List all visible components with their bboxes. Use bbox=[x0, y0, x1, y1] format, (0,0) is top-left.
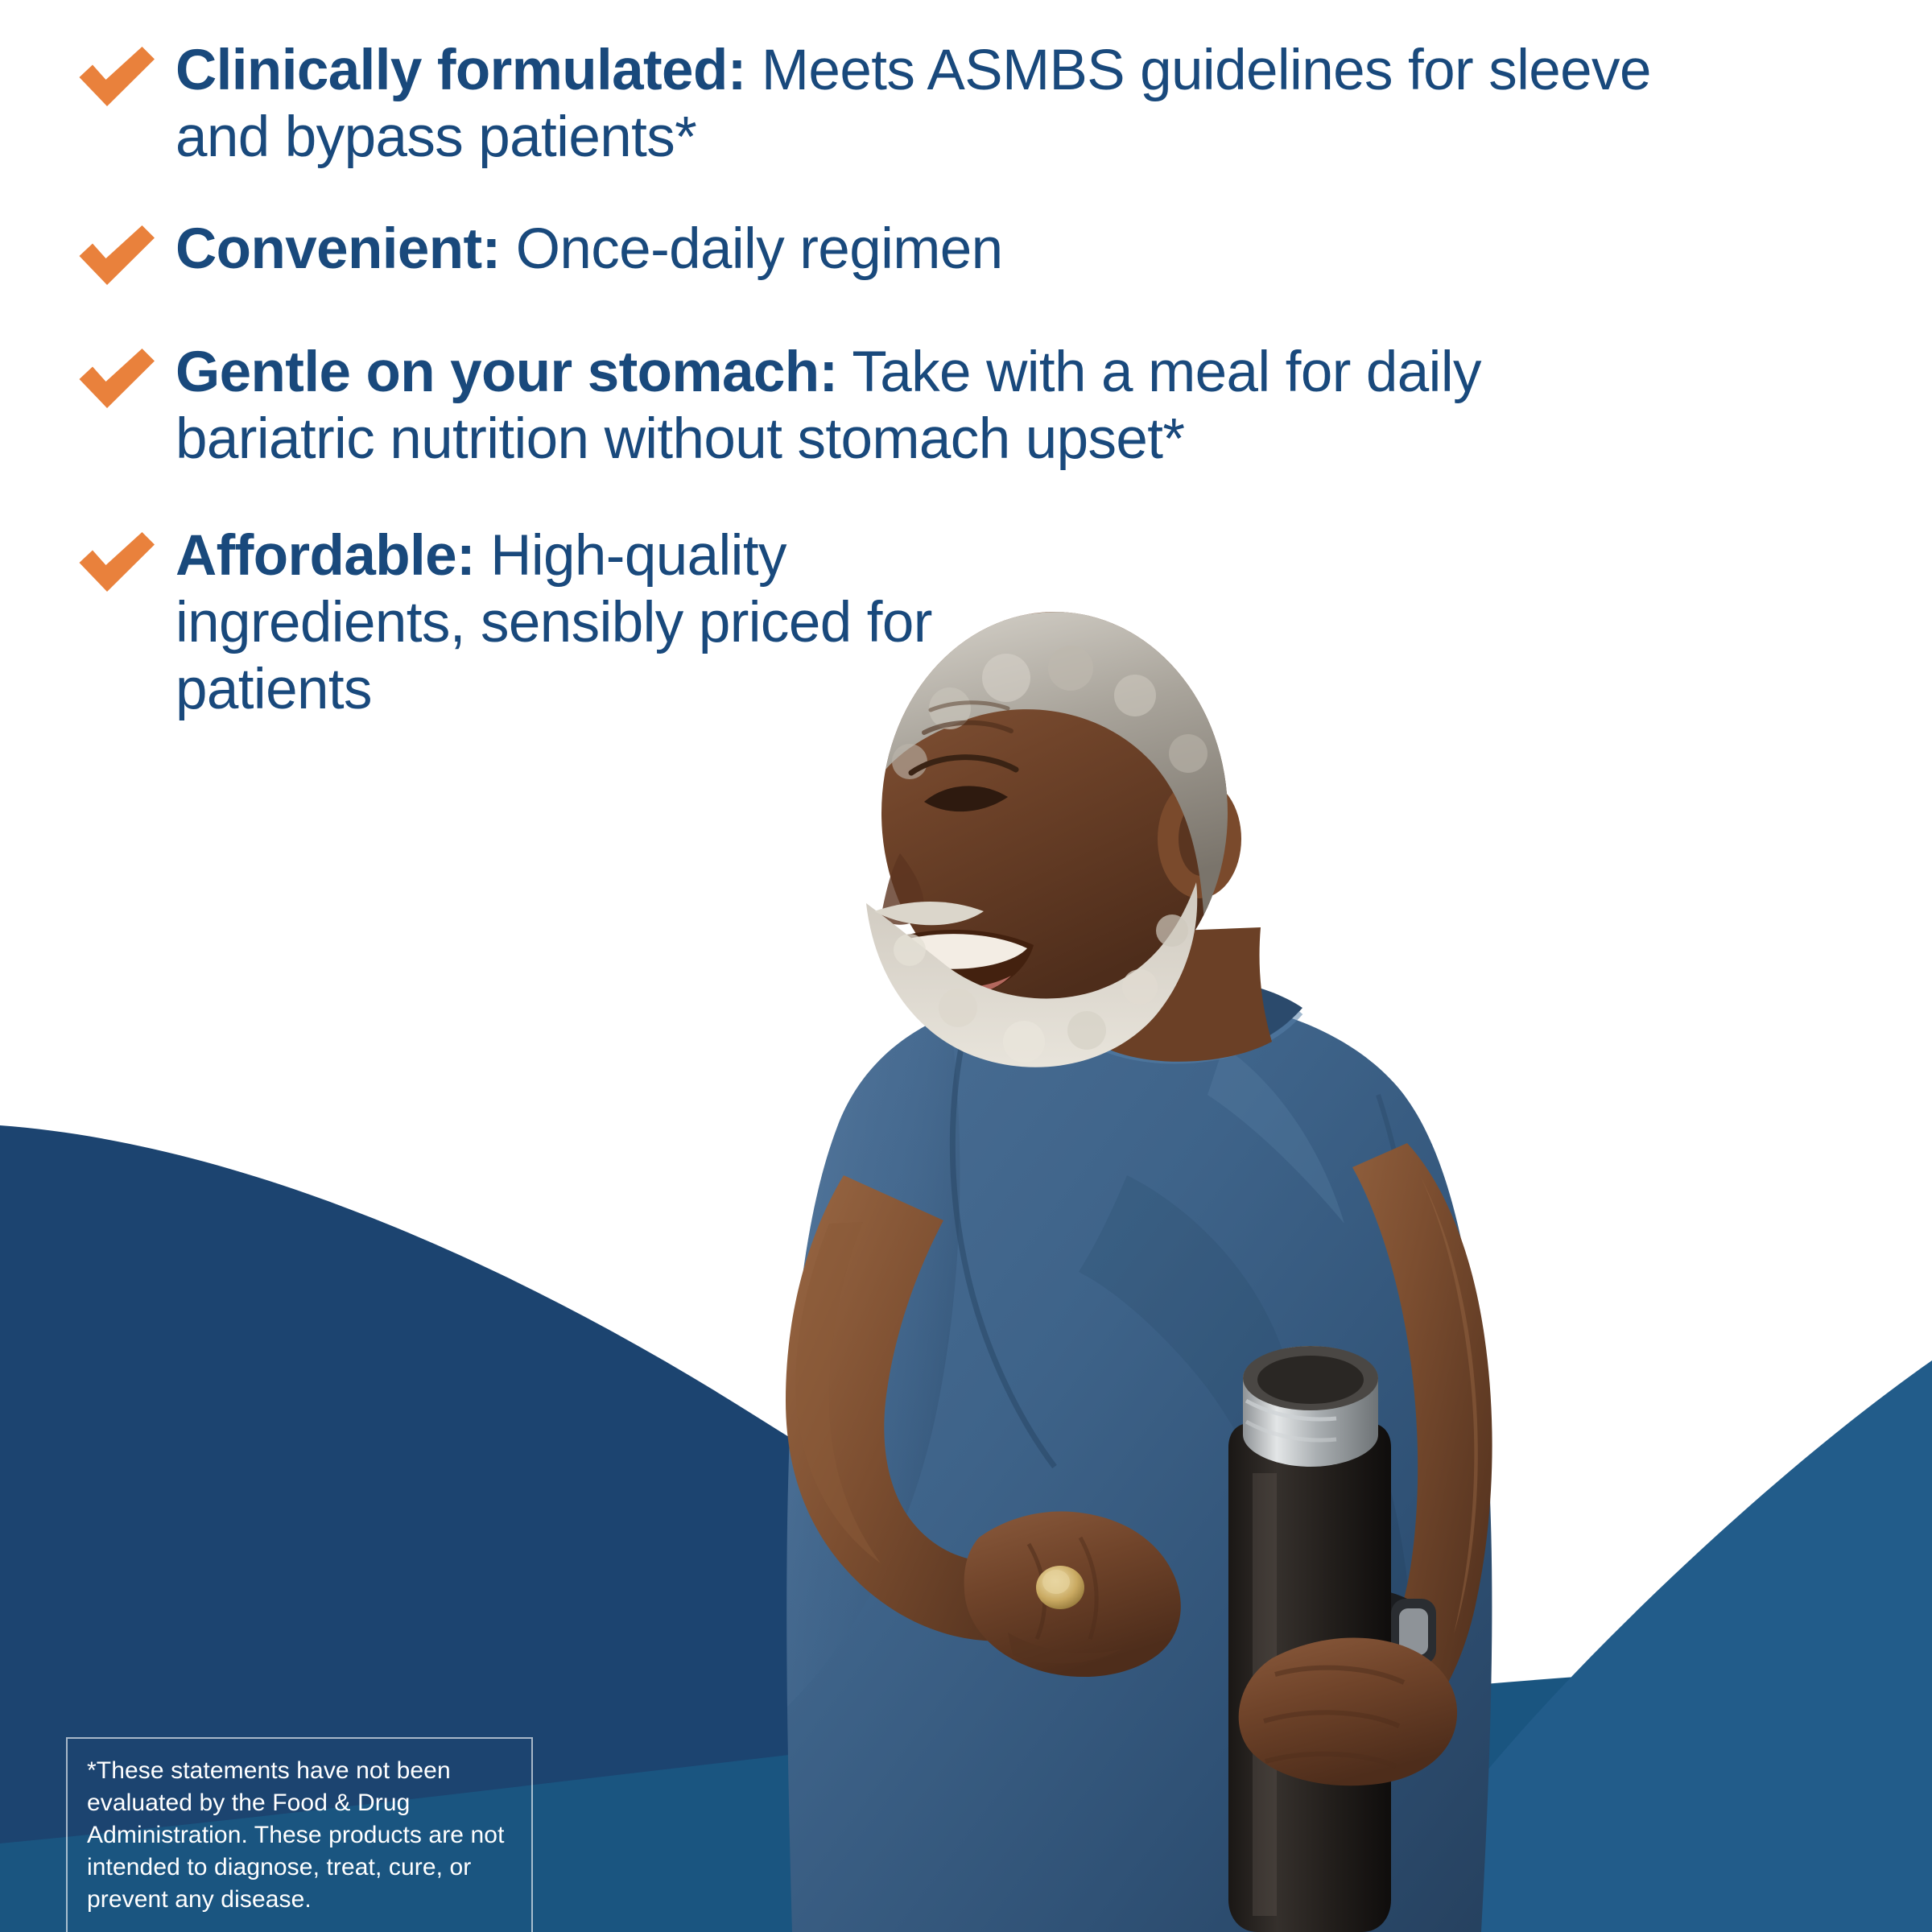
promo-canvas: Clinically formulated: Meets ASMBS guide… bbox=[0, 0, 1932, 1932]
disclaimer-box: *These statements have not been evaluate… bbox=[66, 1737, 533, 1932]
list-item: Gentle on your stomach: Take with a meal… bbox=[64, 339, 1739, 473]
check-icon bbox=[72, 344, 159, 416]
list-item: Affordable: High-quality ingredients, se… bbox=[64, 522, 1739, 723]
disclaimer-text: *These statements have not been evaluate… bbox=[87, 1755, 514, 1915]
hand-holding-bottle bbox=[1239, 1637, 1457, 1785]
bottle-mouth bbox=[1243, 1346, 1378, 1467]
list-item-lead: Gentle on your stomach: bbox=[175, 341, 838, 404]
list-item-lead: Affordable: bbox=[175, 524, 475, 588]
check-icon bbox=[72, 221, 159, 293]
list-item: Clinically formulated: Meets ASMBS guide… bbox=[64, 37, 1739, 171]
hero-photo-man-with-water-bottle bbox=[708, 612, 1771, 1932]
list-item: Convenient: Once-daily regimen bbox=[64, 216, 1739, 283]
gold-ring-icon bbox=[1036, 1566, 1084, 1609]
list-item-body: Once-daily regimen bbox=[501, 217, 1003, 281]
list-item-text: Gentle on your stomach: Take with a meal… bbox=[175, 339, 1649, 473]
check-icon bbox=[72, 42, 159, 114]
check-icon bbox=[72, 527, 159, 600]
list-item-lead: Clinically formulated: bbox=[175, 39, 746, 102]
list-item-text: Convenient: Once-daily regimen bbox=[175, 216, 1697, 283]
list-item-text: Clinically formulated: Meets ASMBS guide… bbox=[175, 37, 1697, 171]
benefits-list: Clinically formulated: Meets ASMBS guide… bbox=[0, 0, 1739, 769]
list-item-text: Affordable: High-quality ingredients, se… bbox=[175, 522, 948, 723]
list-item-lead: Convenient: bbox=[175, 217, 501, 281]
